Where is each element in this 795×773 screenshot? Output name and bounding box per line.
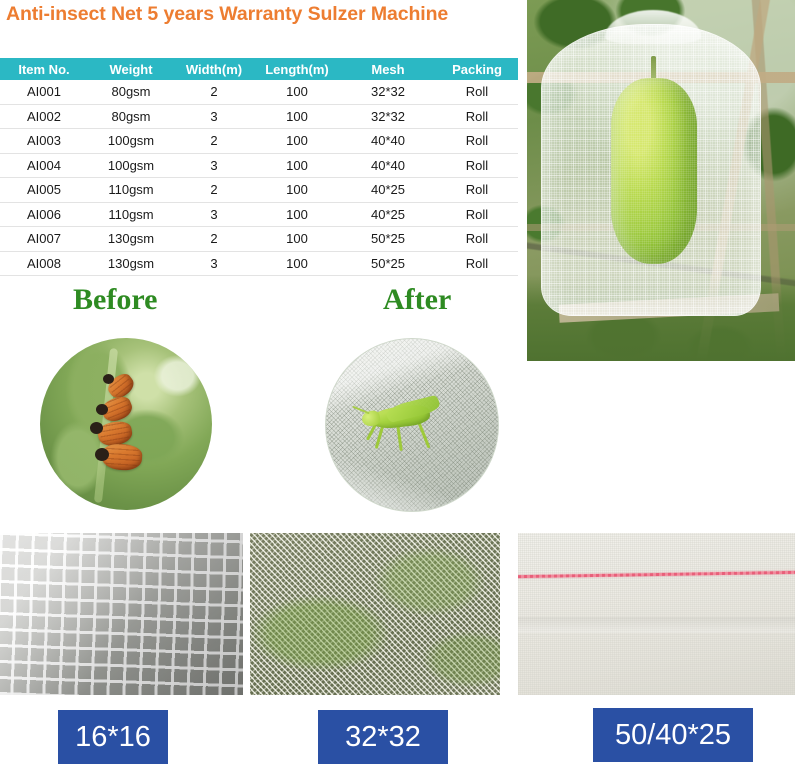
cell-mesh: 32*32 — [340, 80, 436, 104]
cell-packing: Roll — [436, 153, 518, 178]
column-header-width: Width(m) — [174, 58, 254, 80]
cell-width: 3 — [174, 251, 254, 276]
cell-item-no: AI007 — [0, 227, 88, 252]
table-row: AI003 100gsm 2 100 40*40 Roll — [0, 129, 518, 154]
column-header-item-no: Item No. — [0, 58, 88, 80]
cell-packing: Roll — [436, 80, 518, 104]
fine-mesh-texture — [518, 533, 795, 695]
grub-head — [103, 374, 114, 384]
table-row: AI006 110gsm 3 100 40*25 Roll — [0, 202, 518, 227]
mesh-badge-50-40x25: 50/40*25 — [593, 708, 753, 762]
table-row: AI001 80gsm 2 100 32*32 Roll — [0, 80, 518, 104]
column-header-weight: Weight — [88, 58, 174, 80]
cell-length: 100 — [254, 178, 340, 203]
grub-head — [90, 422, 103, 434]
mesh-sample-photo-16x16 — [0, 533, 243, 695]
cell-item-no: AI003 — [0, 129, 88, 154]
cell-weight: 100gsm — [88, 153, 174, 178]
cell-mesh: 50*25 — [340, 251, 436, 276]
cell-width: 3 — [174, 202, 254, 227]
cell-packing: Roll — [436, 202, 518, 227]
cell-weight: 110gsm — [88, 202, 174, 227]
cell-length: 100 — [254, 80, 340, 104]
cell-item-no: AI002 — [0, 104, 88, 129]
cell-weight: 80gsm — [88, 104, 174, 129]
cell-item-no: AI005 — [0, 178, 88, 203]
grub-head — [95, 448, 109, 461]
specification-table: Item No. Weight Width(m) Length(m) Mesh … — [0, 58, 518, 276]
cell-width: 2 — [174, 129, 254, 154]
grub-head — [96, 404, 108, 415]
cell-mesh: 50*25 — [340, 227, 436, 252]
cell-length: 100 — [254, 104, 340, 129]
cell-packing: Roll — [436, 227, 518, 252]
cell-weight: 130gsm — [88, 227, 174, 252]
mesh-badge-32x32: 32*32 — [318, 710, 448, 764]
cell-item-no: AI006 — [0, 202, 88, 227]
cell-mesh: 40*25 — [340, 202, 436, 227]
cell-weight: 130gsm — [88, 251, 174, 276]
product-infographic: Anti-insect Net 5 years Warranty Sulzer … — [0, 0, 795, 773]
cell-length: 100 — [254, 129, 340, 154]
cell-length: 100 — [254, 202, 340, 227]
cell-item-no: AI004 — [0, 153, 88, 178]
coarse-mesh-texture — [0, 533, 243, 695]
green-melon — [611, 78, 697, 264]
mesh-sample-photo-50-40x25 — [518, 533, 795, 695]
table-header-row: Item No. Weight Width(m) Length(m) Mesh … — [0, 58, 518, 80]
cell-width: 2 — [174, 227, 254, 252]
cell-mesh: 40*40 — [340, 129, 436, 154]
cell-weight: 100gsm — [88, 129, 174, 154]
cell-packing: Roll — [436, 178, 518, 203]
mesh-sample-photo-32x32 — [250, 533, 500, 695]
after-label: After — [383, 283, 451, 317]
cell-mesh: 32*32 — [340, 104, 436, 129]
cell-packing: Roll — [436, 104, 518, 129]
before-photo-pest-damage — [40, 338, 212, 510]
column-header-packing: Packing — [436, 58, 518, 80]
cell-width: 3 — [174, 153, 254, 178]
cell-mesh: 40*40 — [340, 153, 436, 178]
cell-width: 2 — [174, 80, 254, 104]
fabric-fold — [518, 617, 795, 633]
cell-packing: Roll — [436, 251, 518, 276]
cell-item-no: AI001 — [0, 80, 88, 104]
mesh-badge-16x16: 16*16 — [58, 710, 168, 764]
cell-item-no: AI008 — [0, 251, 88, 276]
page-title: Anti-insect Net 5 years Warranty Sulzer … — [6, 3, 526, 26]
cell-width: 2 — [174, 178, 254, 203]
cell-mesh: 40*25 — [340, 178, 436, 203]
column-header-mesh: Mesh — [340, 58, 436, 80]
before-label: Before — [73, 283, 157, 317]
column-header-length: Length(m) — [254, 58, 340, 80]
table-row: AI008 130gsm 3 100 50*25 Roll — [0, 251, 518, 276]
after-photo-net-protection — [325, 338, 499, 512]
cell-packing: Roll — [436, 129, 518, 154]
cell-weight: 110gsm — [88, 178, 174, 203]
cell-weight: 80gsm — [88, 80, 174, 104]
table-row: AI005 110gsm 2 100 40*25 Roll — [0, 178, 518, 203]
cell-length: 100 — [254, 251, 340, 276]
table-row: AI007 130gsm 2 100 50*25 Roll — [0, 227, 518, 252]
cell-length: 100 — [254, 227, 340, 252]
table-row: AI002 80gsm 3 100 32*32 Roll — [0, 104, 518, 129]
cell-width: 3 — [174, 104, 254, 129]
hero-product-photo — [527, 0, 795, 361]
table-row: AI004 100gsm 3 100 40*40 Roll — [0, 153, 518, 178]
medium-mesh-texture — [250, 533, 500, 695]
cell-length: 100 — [254, 153, 340, 178]
